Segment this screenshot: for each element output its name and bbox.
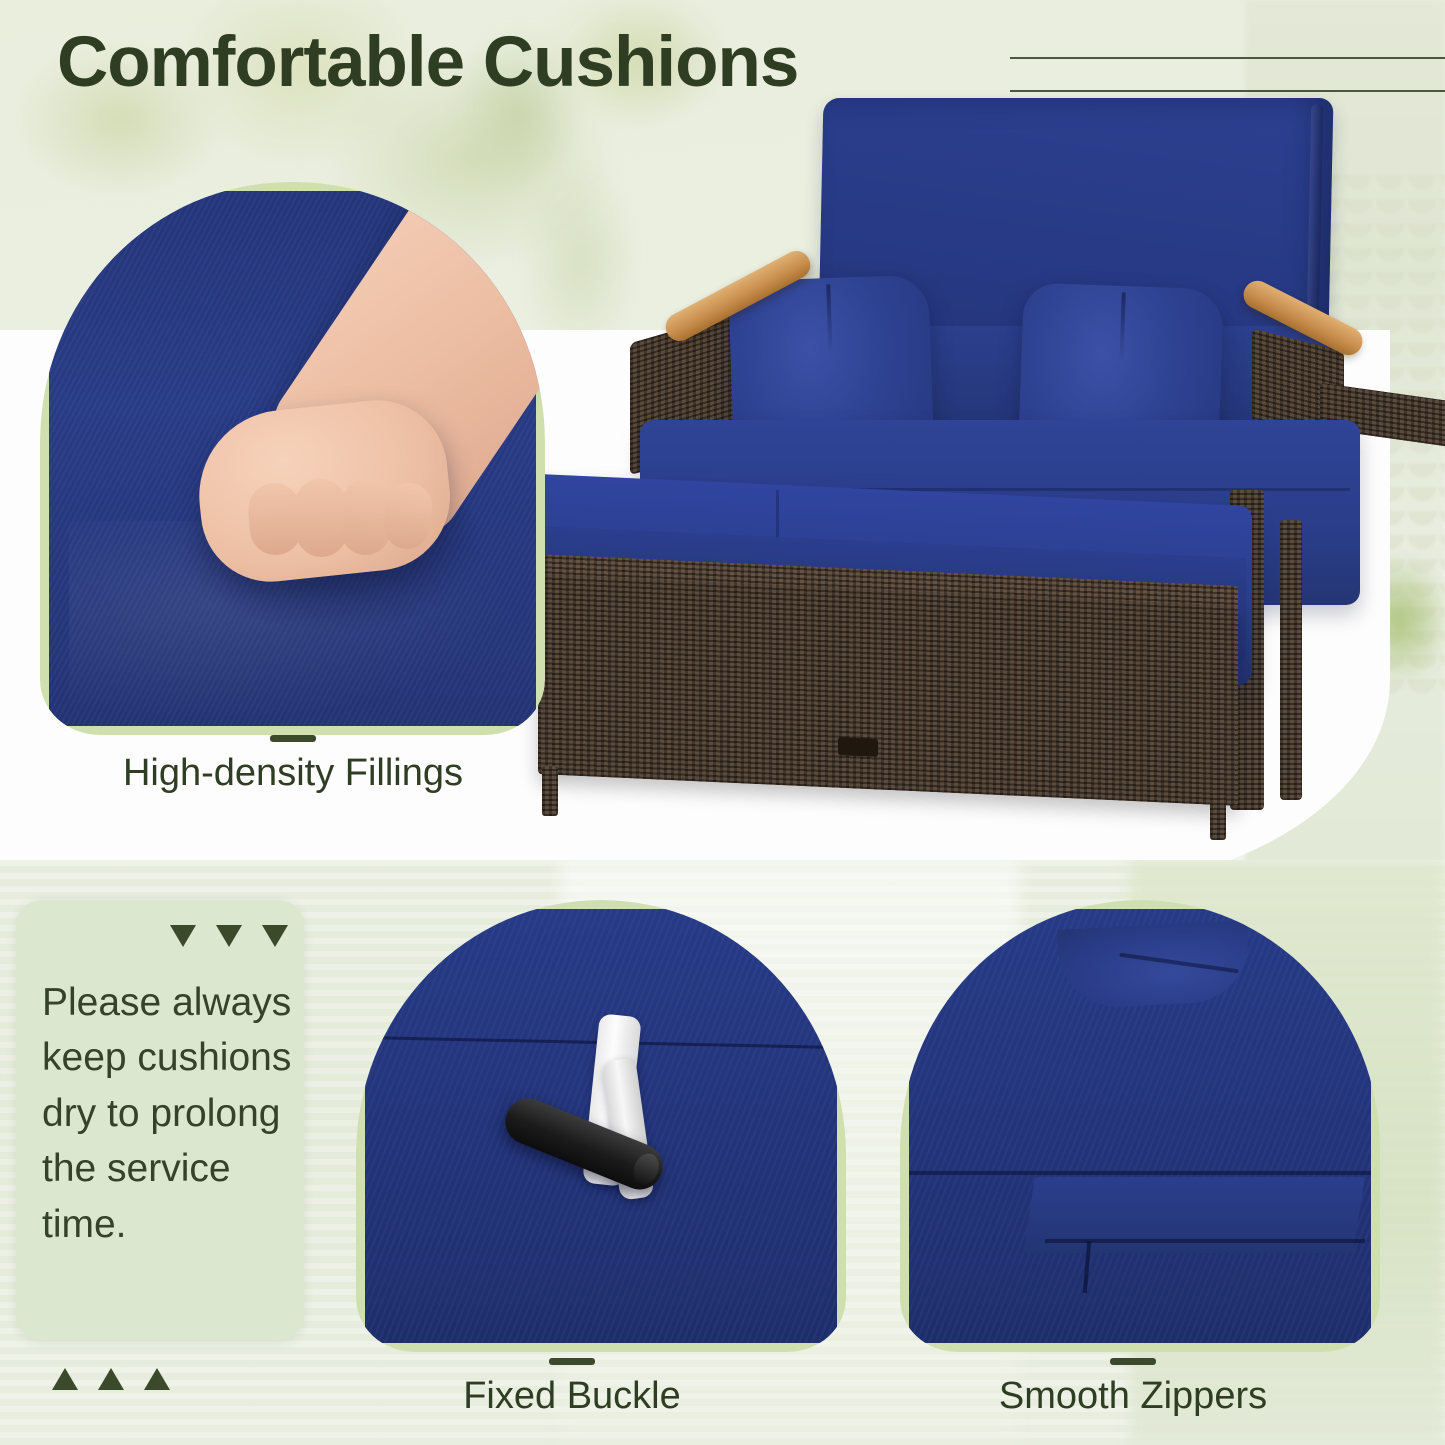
caption-smooth-zippers: Smooth Zippers [968, 1375, 1298, 1418]
wicker-leg-left [542, 766, 558, 816]
chevron-down-icon [170, 925, 196, 947]
care-note-text: Please always keep cushions dry to prolo… [42, 975, 292, 1252]
wicker-base [538, 574, 1238, 806]
panel-frame [40, 182, 545, 735]
wicker-leg-right [1210, 790, 1226, 840]
feature-panel-smooth-zippers [900, 900, 1380, 1352]
chevrons-down-group [170, 925, 288, 947]
wicker-post-right-rear [1280, 520, 1302, 800]
pillow-tuft [826, 284, 832, 354]
caption-high-density-fillings: High-density Fillings [88, 752, 498, 795]
product-image-daybed [520, 90, 1440, 850]
feature-panel-high-density-fillings [40, 182, 545, 735]
chevron-down-icon [216, 925, 242, 947]
title-rule-top [1010, 57, 1445, 59]
pillow-tuft [1119, 292, 1125, 362]
page-title: Comfortable Cushions [57, 27, 798, 98]
top-section: Comfortable Cushions [0, 0, 1445, 880]
panel-frame [356, 900, 846, 1352]
chevron-up-icon [52, 1368, 78, 1390]
infographic-page: Comfortable Cushions [0, 0, 1445, 1445]
zipper-line [1045, 1239, 1365, 1243]
caption-dash-smooth-zippers [1110, 1358, 1156, 1365]
fabric-seam [909, 1171, 1371, 1175]
caption-dash-high-density-fillings [270, 735, 316, 742]
chevron-up-icon [98, 1368, 124, 1390]
caption-dash-fixed-buckle [549, 1358, 595, 1365]
chevrons-up-group [52, 1368, 170, 1390]
chevron-up-icon [144, 1368, 170, 1390]
panel-frame [900, 900, 1380, 1352]
wicker-base-tab [838, 737, 878, 757]
caption-fixed-buckle: Fixed Buckle [432, 1375, 712, 1418]
chevron-down-icon [262, 925, 288, 947]
feature-panel-fixed-buckle [356, 900, 846, 1352]
